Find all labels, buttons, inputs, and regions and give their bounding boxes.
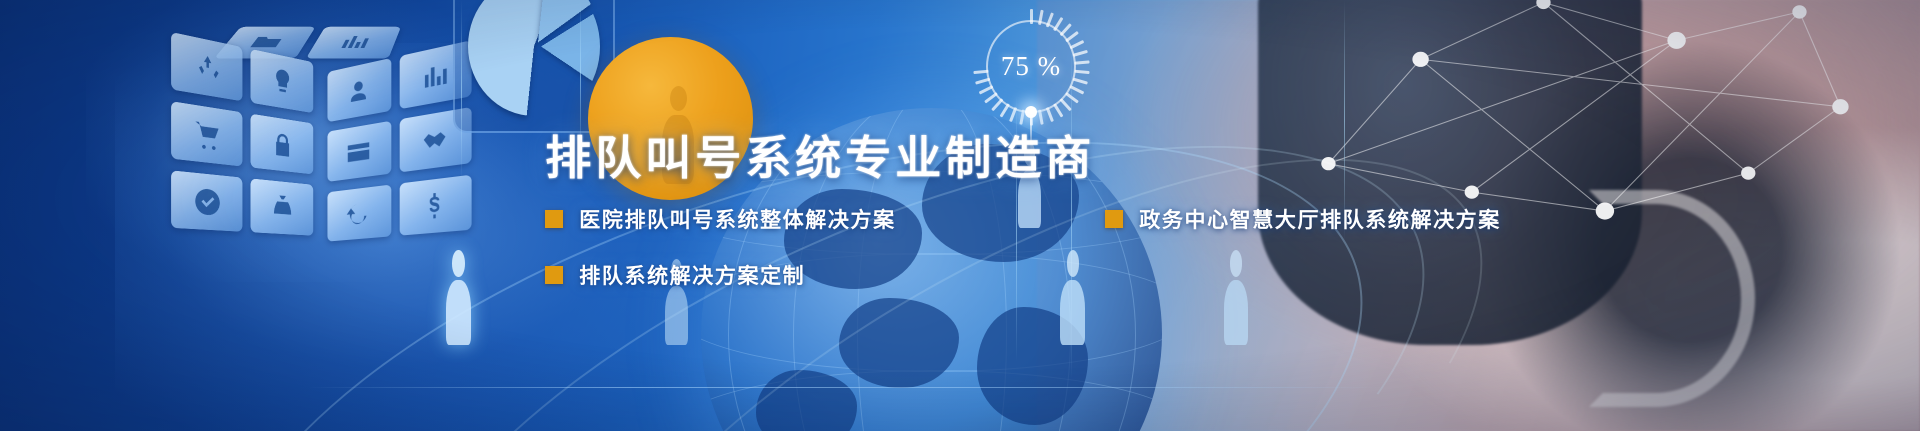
bullet-list: 医院排队叫号系统整体解决方案 排队系统解决方案定制 政务中心智慧大厅排队系统解决…	[545, 204, 1812, 296]
bullet-label: 排队系统解决方案定制	[579, 260, 805, 290]
banner-copy: 排队叫号系统专业制造商 医院排队叫号系统整体解决方案 排队系统解决方案定制 政务…	[545, 134, 1812, 296]
list-item: 政务中心智慧大厅排队系统解决方案	[1105, 204, 1501, 234]
bullet-label: 政务中心智慧大厅排队系统解决方案	[1139, 204, 1501, 234]
list-item: 排队系统解决方案定制	[545, 260, 805, 290]
bullet-label: 医院排队叫号系统整体解决方案	[579, 204, 895, 234]
bottom-divider	[307, 387, 1382, 388]
list-item: 医院排队叫号系统整体解决方案	[545, 204, 895, 234]
bullet-square-icon	[1105, 210, 1123, 228]
hero-banner: 75 %	[0, 0, 1920, 431]
bullet-square-icon	[545, 266, 563, 284]
bullet-square-icon	[545, 210, 563, 228]
page-title: 排队叫号系统专业制造商	[545, 134, 1812, 182]
